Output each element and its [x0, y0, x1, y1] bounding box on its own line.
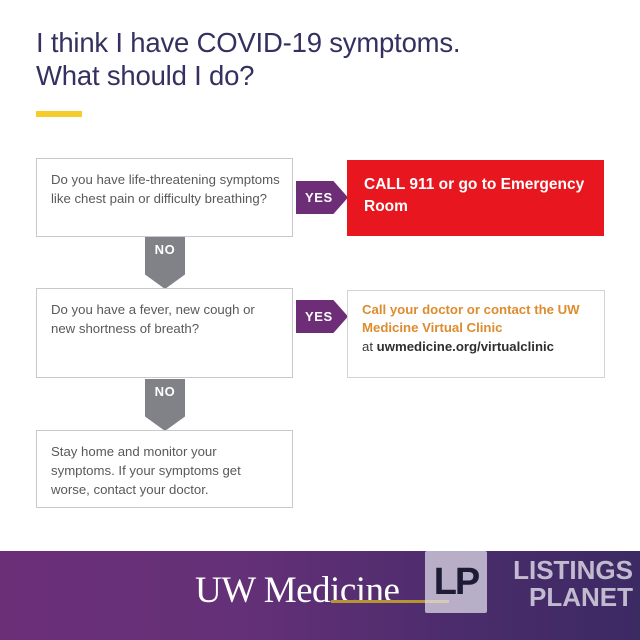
- page-title-line-1: I think I have COVID-19 symptoms.: [36, 26, 596, 59]
- outcome-doctor-headline: Call your doctor or contact the UW Medic…: [362, 301, 596, 336]
- no-arrow-1-label: NO: [155, 242, 176, 257]
- yes-arrow-1-label: YES: [305, 190, 333, 205]
- infographic-page: I think I have COVID-19 symptoms. What s…: [0, 0, 640, 640]
- question-box-1: Do you have life-threatening symptoms li…: [36, 158, 293, 237]
- no-arrow-2-label: NO: [155, 384, 176, 399]
- yes-arrow-2-label: YES: [305, 309, 333, 324]
- outcome-emergency-text: CALL 911 or go to Emergency Room: [364, 174, 594, 218]
- outcome-emergency-box: CALL 911 or go to Emergency Room: [347, 160, 604, 236]
- page-title: I think I have COVID-19 symptoms. What s…: [36, 26, 596, 92]
- question-2-text: Do you have a fever, new cough or new sh…: [51, 300, 280, 338]
- outcome-doctor-box: Call your doctor or contact the UW Medic…: [347, 290, 605, 378]
- question-1-text: Do you have life-threatening symptoms li…: [51, 170, 280, 208]
- uw-medicine-logo: UW Medicine: [195, 570, 399, 612]
- listings-planet-wordmark: LISTINGS PLANET: [493, 557, 633, 611]
- virtual-clinic-url[interactable]: uwmedicine.org/virtualclinic: [377, 339, 554, 354]
- no-arrow-1: NO: [145, 237, 185, 289]
- no-arrow-2: NO: [145, 379, 185, 431]
- question-box-3: Stay home and monitor your symptoms. If …: [36, 430, 293, 508]
- yes-arrow-1: YES: [296, 181, 348, 214]
- page-title-line-2: What should I do?: [36, 59, 596, 92]
- yes-arrow-2: YES: [296, 300, 348, 333]
- listings-planet-wordmark-line-1: LISTINGS: [493, 557, 633, 584]
- title-accent-rule: [36, 111, 82, 117]
- outcome-doctor-url-prefix: at: [362, 339, 377, 354]
- question-box-2: Do you have a fever, new cough or new sh…: [36, 288, 293, 378]
- outcome-doctor-url-line: at uwmedicine.org/virtualclinic: [362, 338, 596, 356]
- listings-planet-monogram-letters: LP: [434, 563, 479, 601]
- question-3-text: Stay home and monitor your symptoms. If …: [51, 442, 280, 499]
- listings-planet-monogram-icon: LP: [425, 551, 487, 613]
- listings-planet-wordmark-line-2: PLANET: [493, 584, 633, 611]
